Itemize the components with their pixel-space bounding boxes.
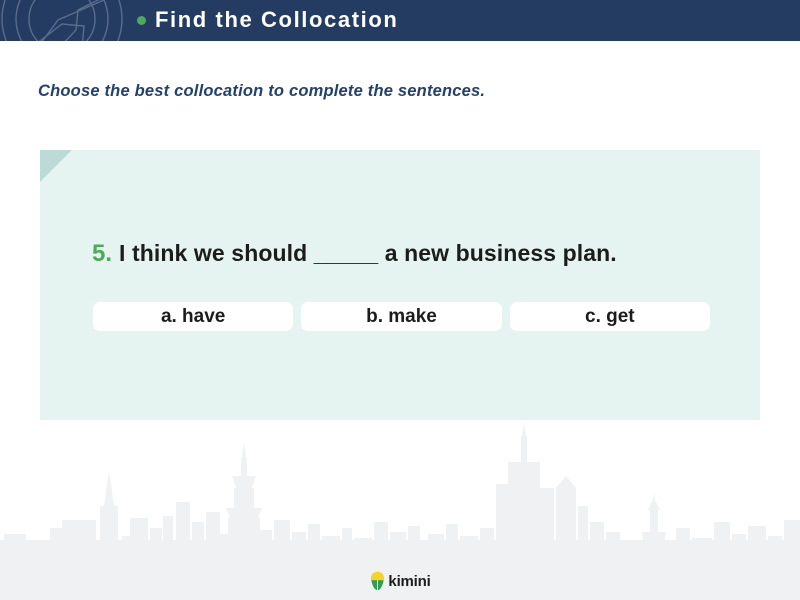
circular-line-art-logo-icon (0, 0, 150, 41)
answer-option-c[interactable]: c. get (510, 302, 710, 331)
slide-footer: kimini (0, 562, 800, 600)
kimini-logo: kimini (369, 571, 430, 591)
green-dot-icon (137, 16, 146, 25)
kimini-balloon-logo-icon (369, 571, 386, 591)
kimini-logo-text: kimini (388, 573, 430, 590)
question-text: I think we should _____ a new business p… (119, 240, 617, 267)
question-card: 5. I think we should _____ a new busines… (40, 150, 760, 420)
slide-header: Find the Collocation (0, 0, 800, 41)
card-fold-corner-icon (40, 150, 72, 182)
answer-option-a[interactable]: a. have (93, 302, 293, 331)
city-skyline-silhouette-icon (0, 422, 800, 562)
instruction-text: Choose the best collocation to complete … (38, 82, 485, 101)
slide-root: Find the Collocation Choose the best col… (0, 0, 800, 600)
answer-option-b[interactable]: b. make (301, 302, 501, 331)
answer-options: a. have b. make c. get (93, 302, 710, 331)
question-line: 5. I think we should _____ a new busines… (92, 240, 617, 268)
page-title: Find the Collocation (155, 7, 398, 33)
question-number: 5. (92, 240, 112, 268)
